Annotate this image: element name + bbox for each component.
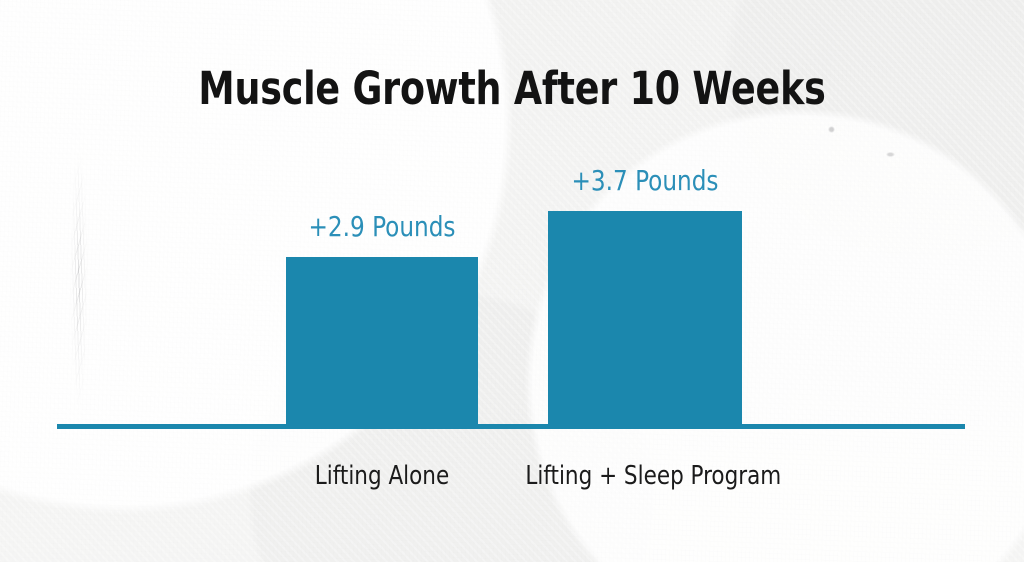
bar-chart-figure: Muscle Growth After 10 Weeks +2.9 Pounds… — [0, 0, 1024, 562]
bar-value-label: +3.7 Pounds — [535, 167, 756, 195]
category-label: Lifting + Sleep Program — [525, 463, 764, 489]
bar-lifting-plus-sleep-program — [548, 211, 742, 427]
bar-lifting-alone — [286, 257, 478, 427]
plot-area: +2.9 Pounds +3.7 Pounds Lifting Alone Li… — [0, 0, 1024, 562]
axis-baseline — [57, 424, 965, 429]
category-label: Lifting Alone — [262, 463, 501, 489]
bar-value-label: +2.9 Pounds — [272, 213, 493, 241]
